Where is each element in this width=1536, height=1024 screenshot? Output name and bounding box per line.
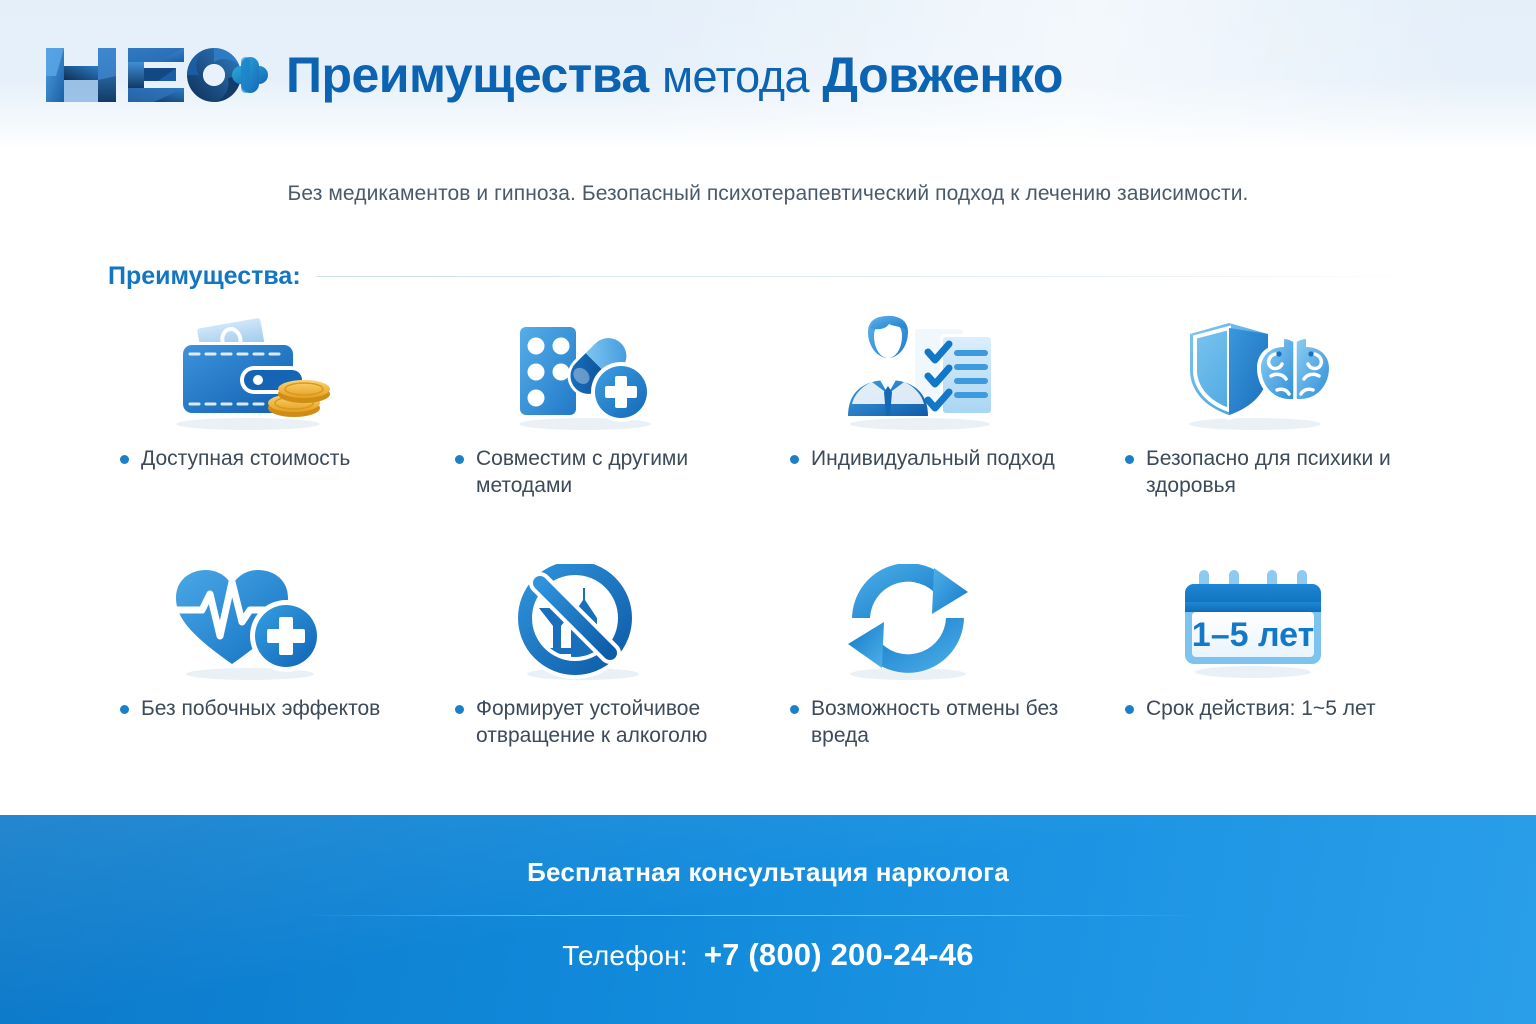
benefits-grid: Доступная стоимость (100, 312, 1440, 750)
benefit-label: Срок действия: 1~5 лет (1146, 696, 1376, 723)
footer-banner: Бесплатная консультация нарколога Телефо… (0, 815, 1536, 1024)
benefit-item[interactable]: Безопасно для психики и здоровья (1105, 312, 1440, 500)
bullet-icon (790, 705, 799, 714)
benefit-label: Индивидуальный подход (811, 446, 1055, 473)
benefit-label-wrap: Совместим с другими методами (435, 446, 750, 500)
calendar-text: 1–5 лет (1192, 616, 1314, 654)
bullet-icon (455, 705, 464, 714)
bullet-icon (120, 455, 129, 464)
benefit-item[interactable]: Формирует устойчивое отвращение к алкого… (435, 562, 770, 750)
heart-pulse-cross-icon (100, 562, 435, 684)
page-title: Преимущества метода Довженко (286, 50, 1063, 100)
bullet-icon (455, 455, 464, 464)
phone-number[interactable]: +7 (800) 200-24-46 (704, 937, 974, 972)
benefit-item[interactable]: Возможность отмены без вреда (770, 562, 1105, 750)
no-alcohol-icon (435, 562, 770, 684)
section-heading-rule (317, 276, 1438, 277)
benefit-label: Безопасно для психики и здоровья (1146, 446, 1420, 500)
benefit-label-wrap: Без побочных эффектов (100, 696, 380, 723)
subtitle: Без медикаментов и гипноза. Безопасный п… (0, 182, 1536, 206)
bullet-icon (790, 455, 799, 464)
title-part-1: Преимущества (286, 47, 649, 103)
benefit-label-wrap: Безопасно для психики и здоровья (1105, 446, 1420, 500)
refresh-arrows-icon (770, 562, 1105, 684)
benefit-label-wrap: Срок действия: 1~5 лет (1105, 696, 1376, 723)
doctor-checklist-icon (770, 312, 1105, 434)
phone-label: Телефон: (562, 940, 688, 971)
footer-cta: Бесплатная консультация нарколога (0, 857, 1536, 888)
bullet-icon (120, 705, 129, 714)
bullet-icon (1125, 455, 1134, 464)
header: Преимущества метода Довженко (0, 0, 1536, 150)
neo-plus-logo[interactable] (36, 36, 268, 114)
benefit-label-wrap: Доступная стоимость (100, 446, 350, 473)
section-heading: Преимущества: (108, 262, 1438, 291)
footer-sheen (0, 815, 1536, 1024)
title-part-3: Довженко (822, 47, 1063, 103)
benefit-label: Совместим с другими методами (476, 446, 750, 500)
footer-phone[interactable]: Телефон: +7 (800) 200-24-46 (0, 937, 1536, 973)
footer-divider (300, 915, 1200, 916)
shield-brain-icon (1105, 312, 1440, 434)
pills-capsule-cross-icon (435, 312, 770, 434)
benefit-label-wrap: Индивидуальный подход (770, 446, 1055, 473)
benefit-item[interactable]: 1–5 лет Срок действия: 1~5 лет (1105, 562, 1440, 750)
benefit-label: Без побочных эффектов (141, 696, 380, 723)
benefit-item[interactable]: Без побочных эффектов (100, 562, 435, 750)
bullet-icon (1125, 705, 1134, 714)
calendar-icon: 1–5 лет (1105, 562, 1440, 684)
benefit-label: Доступная стоимость (141, 446, 350, 473)
benefit-item[interactable]: Доступная стоимость (100, 312, 435, 500)
benefit-label-wrap: Возможность отмены без вреда (770, 696, 1085, 750)
benefit-item[interactable]: Совместим с другими методами (435, 312, 770, 500)
section-heading-label: Преимущества: (108, 262, 301, 291)
benefit-label: Формирует устойчивое отвращение к алкого… (476, 696, 750, 750)
title-part-2: метода (662, 51, 809, 102)
benefit-label-wrap: Формирует устойчивое отвращение к алкого… (435, 696, 750, 750)
benefit-item[interactable]: Индивидуальный подход (770, 312, 1105, 500)
wallet-coins-icon (100, 312, 435, 434)
benefit-label: Возможность отмены без вреда (811, 696, 1085, 750)
